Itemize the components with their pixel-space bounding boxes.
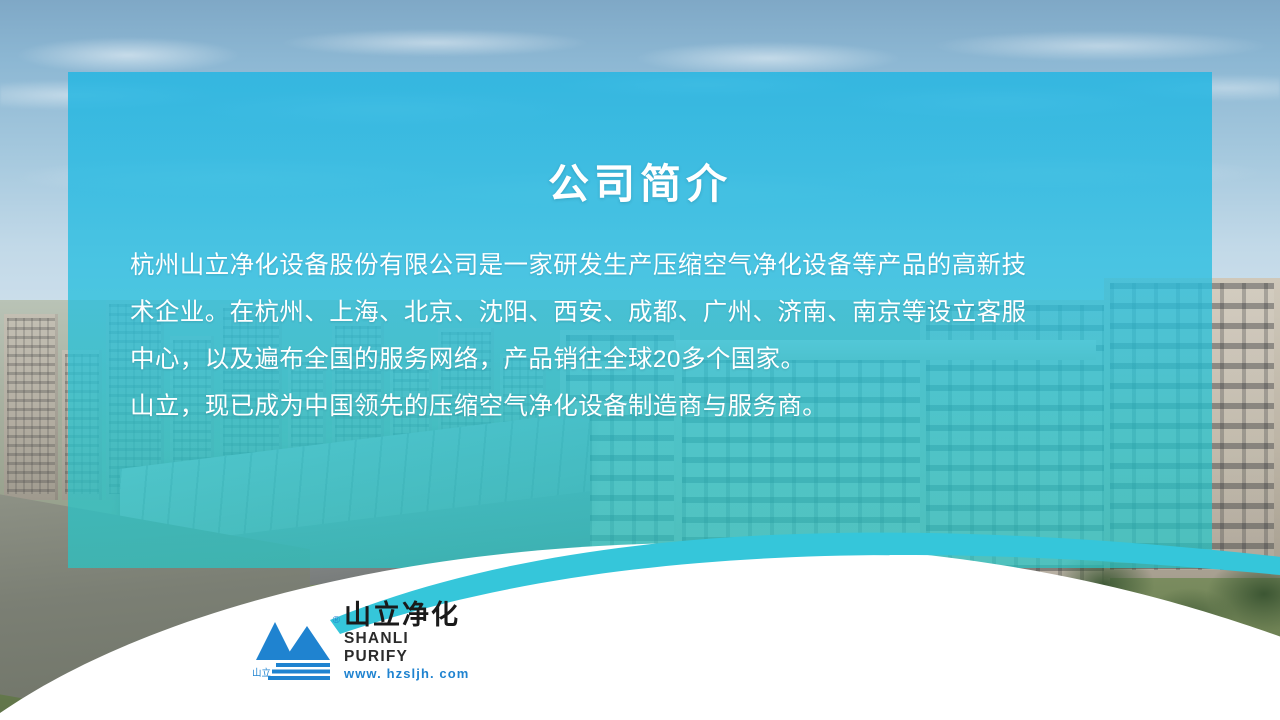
slide-canvas: 公司简介 杭州山立净化设备股份有限公司是一家研发生产压缩空气净化设备等产品的高新… bbox=[0, 0, 1280, 720]
logo-website-text: www. hzsljh. com bbox=[344, 667, 472, 682]
logo-wordmark: 山立净化 SHANLI PURIFY www. hzsljh. com bbox=[344, 601, 472, 684]
description-line: 术企业。在杭州、上海、北京、沈阳、西安、成都、广州、济南、南京等设立客服 bbox=[130, 289, 1110, 336]
description-line: 中心，以及遍布全国的服务网络，产品销往全球20多个国家。 bbox=[130, 336, 1110, 383]
logo-name-en: SHANLI PURIFY bbox=[344, 630, 472, 666]
description-line: 山立，现已成为中国领先的压缩空气净化设备制造商与服务商。 bbox=[130, 383, 1110, 430]
description-line: 杭州山立净化设备股份有限公司是一家研发生产压缩空气净化设备等产品的高新技 bbox=[130, 242, 1110, 289]
company-description: 杭州山立净化设备股份有限公司是一家研发生产压缩空气净化设备等产品的高新技 术企业… bbox=[130, 242, 1110, 430]
logo-name-cn: 山立净化 bbox=[344, 601, 472, 629]
logo[interactable]: ® 山立 山立净化 SHANLI PURIFY www. hzsljh. com bbox=[252, 608, 472, 684]
registered-trademark-icon: ® bbox=[333, 616, 340, 626]
page-title: 公司简介 bbox=[0, 150, 1280, 210]
logo-mark-label: 山立 bbox=[252, 669, 271, 679]
mountain-peaks-icon: ® 山立 bbox=[252, 616, 336, 684]
